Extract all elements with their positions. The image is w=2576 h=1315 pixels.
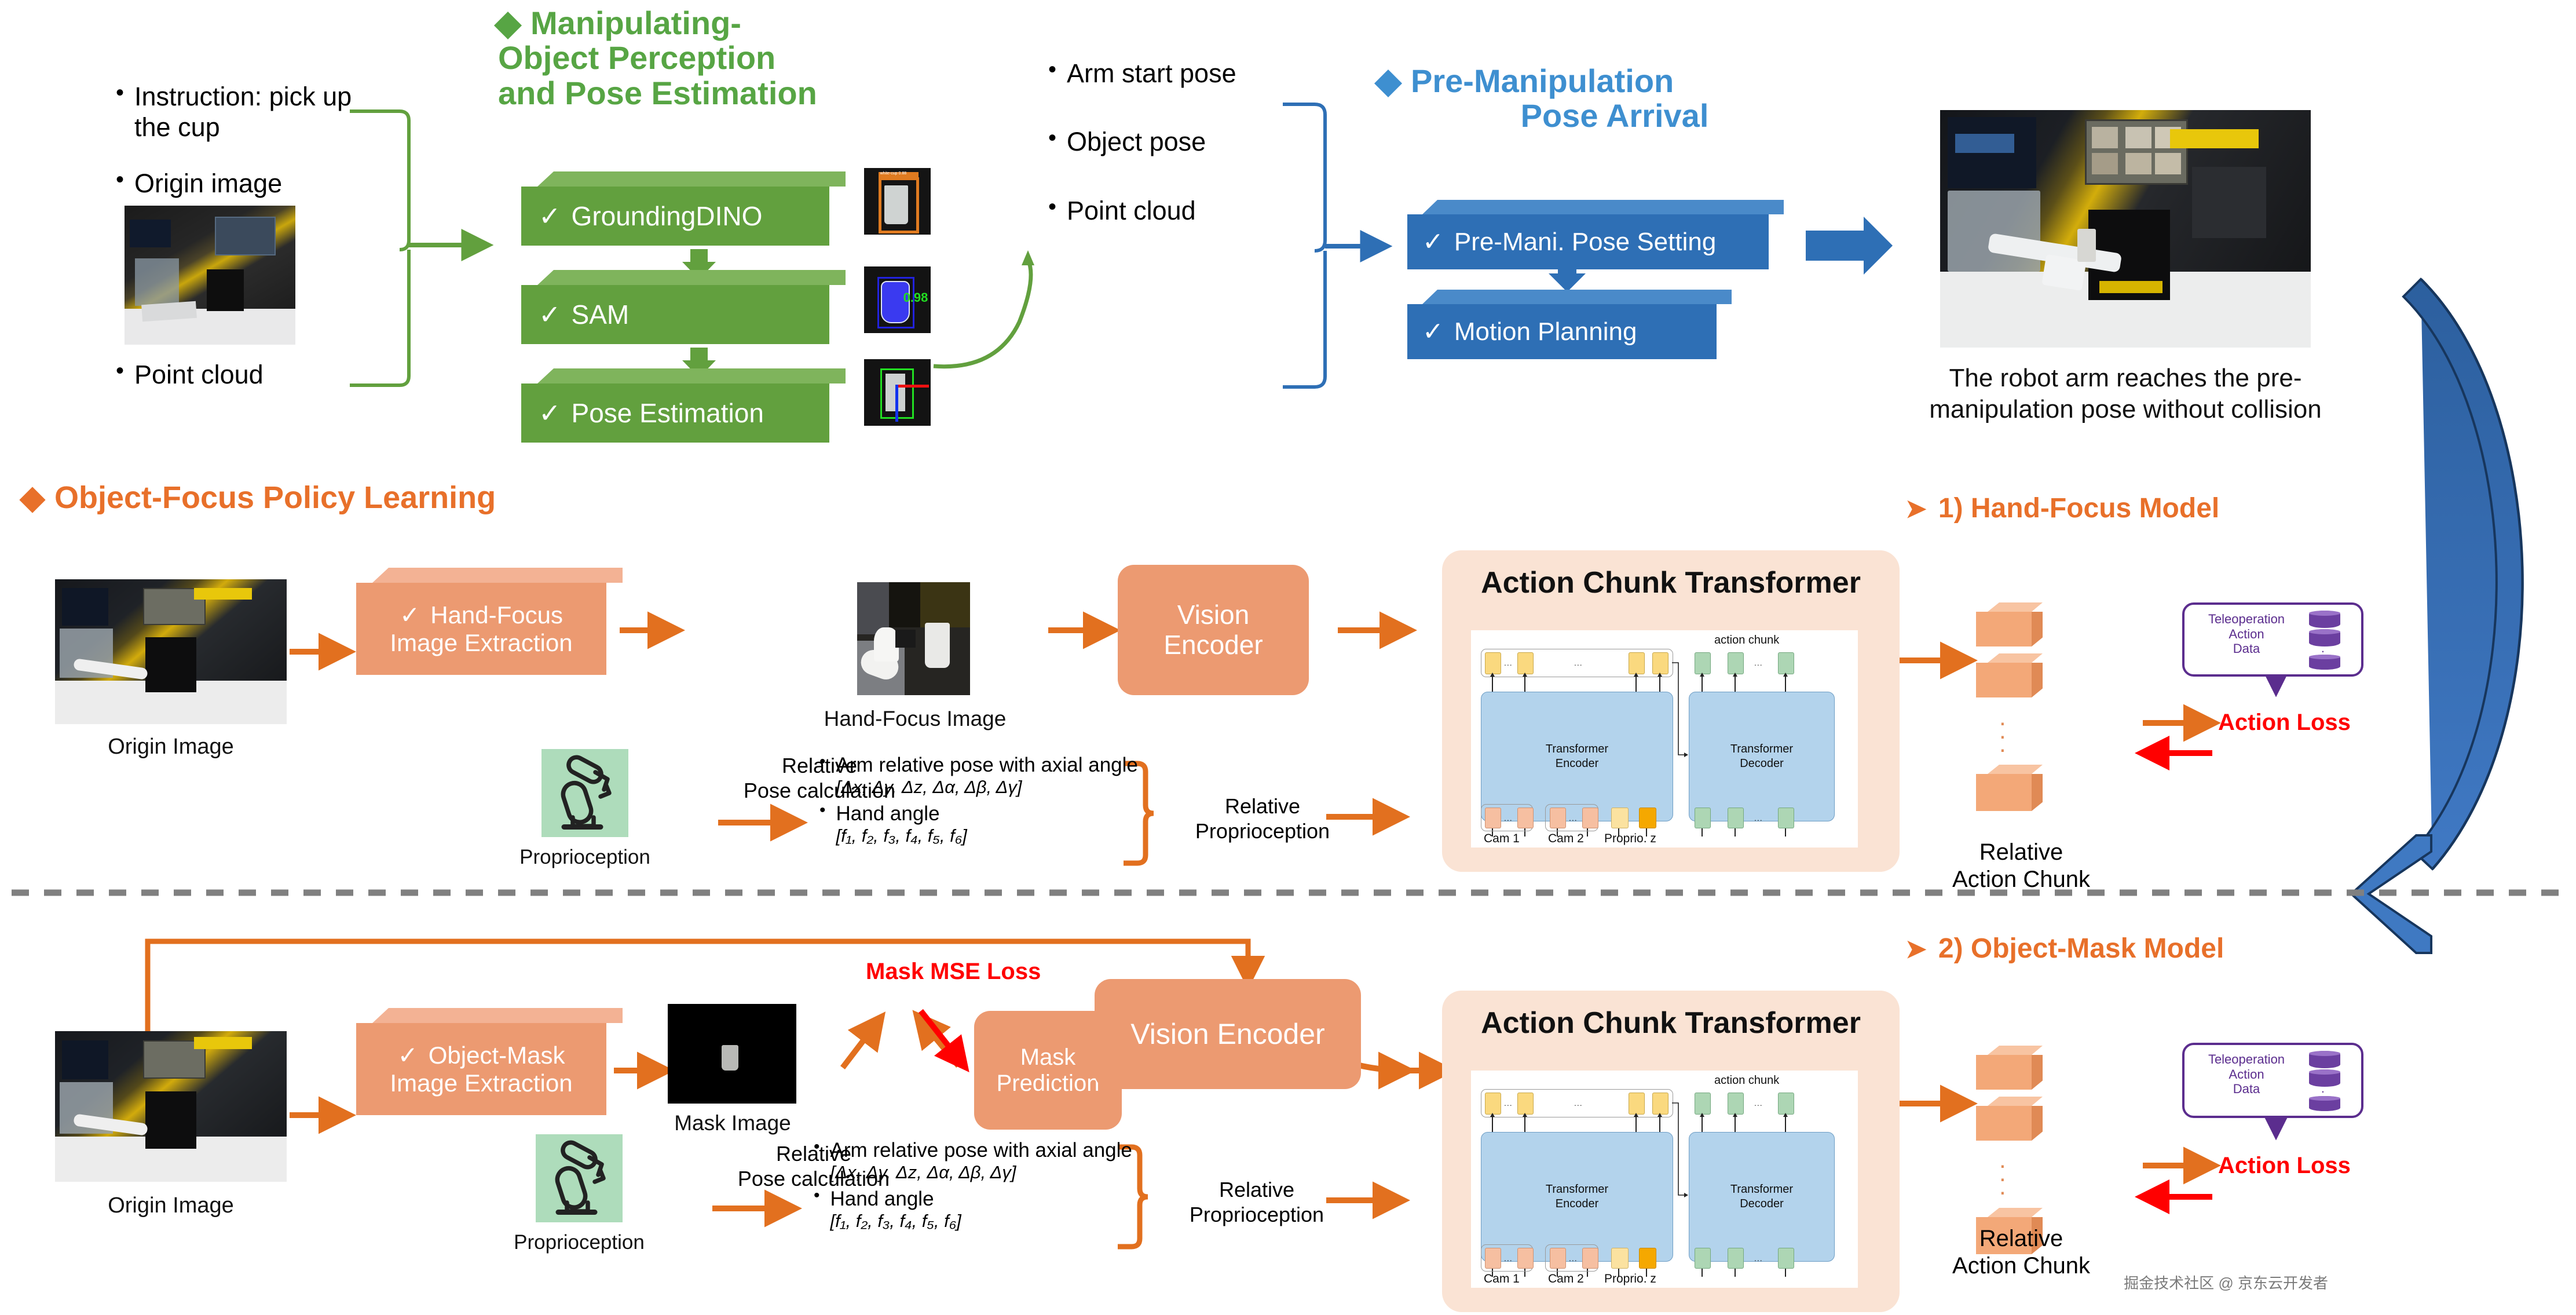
action-chunk-transformer-bottom: Action Chunk Transformer action chunk ..… — [1442, 991, 1900, 1312]
robot-arm-icon — [536, 1134, 623, 1222]
relative-proprio-line2: Proprioception — [1164, 1202, 1349, 1227]
check-icon: ✓ — [539, 299, 561, 330]
check-icon: ✓ — [539, 397, 561, 429]
check-icon: ✓ — [398, 1041, 418, 1069]
relative-proprioception-bottom: Relative Proprioception — [1164, 1177, 1349, 1227]
teleop-line3: Data — [2191, 641, 2301, 656]
hand-focus-image-extraction-box[interactable]: ✓ Hand-Focus Image Extraction — [356, 568, 623, 675]
decoder-line1: Transformer — [1730, 1182, 1793, 1197]
policy-title-text: Object-Focus Policy Learning — [54, 480, 496, 515]
database-cylinder-icon — [2309, 1051, 2340, 1068]
stage-sam[interactable]: ✓ SAM — [521, 270, 846, 344]
hand-focus-heading-text: 1) Hand-Focus Model — [1938, 493, 2219, 524]
proprioception-icon-middle — [541, 749, 628, 837]
act-title: Action Chunk Transformer — [1442, 1006, 1900, 1040]
proprio-bullet-line2: [f₁, f₂, f₃, f₄, f₅, f₆] — [836, 825, 967, 846]
vision-encoder-line1: Vision — [1177, 600, 1249, 630]
bullet-dot: • — [1048, 195, 1056, 218]
mask-prediction-line2: Prediction — [997, 1071, 1100, 1097]
database-cylinder-icon — [2309, 611, 2340, 628]
blue-curved-loop-arrow — [2351, 279, 2522, 953]
teleop-line2: Action — [2191, 1067, 2301, 1082]
vertical-ellipsis-icon: ... — [1999, 1153, 2006, 1193]
vision-encoder-line2: Encoder — [1163, 630, 1263, 660]
stage-label: Pose Estimation — [572, 397, 764, 429]
action-chunk-transformer-middle: Action Chunk Transformer action chunk ..… — [1442, 550, 1900, 872]
action-chunk-cube — [1976, 653, 2043, 697]
database-cylinder-icon — [2309, 629, 2340, 646]
premanip-title-line1: Pre-Manipulation — [1411, 63, 1674, 99]
check-icon: ✓ — [1422, 317, 1444, 346]
database-cylinder-icon — [2309, 1069, 2340, 1087]
action-loss-label-bottom: Action Loss — [2218, 1153, 2351, 1179]
object-mask-extraction-line2: Image Extraction — [390, 1069, 572, 1097]
proprio-bullet-line1: Arm relative pose with axial angle — [836, 754, 1138, 776]
mask-image-caption: Mask Image — [643, 1111, 822, 1135]
proprioception-caption-middle: Proprioception — [495, 846, 675, 869]
bullet-dot: • — [814, 1138, 820, 1156]
proprio-bullet-line2: [Δx, Δy, Δz, Δα, Δβ, Δγ] — [836, 777, 1022, 797]
diagram-canvas: • Instruction: pick up the cup • Origin … — [0, 0, 2576, 1315]
check-icon: ✓ — [539, 200, 561, 232]
hand-focus-proprio-bullets: • Arm relative pose with axial angle [Δx… — [819, 753, 1144, 847]
object-mask-proprio-bullets: • Arm relative pose with axial angle [Δx… — [814, 1138, 1138, 1232]
blue-diamond-icon — [1374, 70, 1402, 97]
action-chunk-cube — [1976, 765, 2043, 811]
premanip-input-object-pose: • Object pose — [1048, 126, 1297, 157]
origin-image-bottom-thumbnail — [55, 1031, 287, 1182]
action-chunk-cube — [1976, 1097, 2043, 1141]
bbox-detection-thumbnail: white-cup 0.88 — [864, 168, 931, 235]
bullet-dot: • — [116, 168, 124, 191]
bullet-dot: • — [819, 802, 826, 819]
proprio-bullet-line2: [f₁, f₂, f₃, f₄, f₅, f₆] — [830, 1211, 961, 1231]
perception-input-label: Instruction: pick up the cup — [134, 81, 359, 143]
origin-image-middle-thumbnail — [55, 579, 287, 724]
hand-focus-origin-caption: Origin Image — [55, 735, 287, 759]
object-mask-model-heading: ➤2) Object-Mask Model — [1905, 933, 2224, 965]
stage-label: SAM — [572, 299, 630, 330]
premanip-input-arm-start-pose: • Arm start pose — [1048, 58, 1297, 89]
transformer-decoder: Transformer Decoder — [1689, 1132, 1835, 1262]
policy-section-title: Object-Focus Policy Learning — [23, 481, 496, 514]
perception-input-label: Origin image — [134, 168, 282, 199]
chevron-right-icon: ➤ — [1905, 935, 1927, 963]
teleop-line3: Data — [2191, 1082, 2301, 1097]
perception-input-origin-image: • Origin image — [116, 168, 359, 199]
bullet-dot: • — [1048, 58, 1056, 81]
perception-title-line1: Manipulating- — [530, 5, 741, 41]
object-mask-heading-text: 2) Object-Mask Model — [1938, 933, 2224, 964]
teleoperation-action-data-middle: Teleoperation Action Data ... — [2182, 602, 2363, 677]
vertical-ellipsis-icon: ... — [1999, 710, 2006, 750]
premanip-section-title: Pre-Manipulation Pose Arrival — [1378, 64, 1818, 134]
action-chunk-cube — [1976, 602, 2043, 646]
decoder-line2: Decoder — [1730, 1197, 1793, 1211]
chunk-caption-line2: Action Chunk — [1929, 866, 2114, 893]
act-input-cam2: Cam 2 — [1548, 1272, 1584, 1286]
blue-block-arrow — [1806, 217, 1893, 275]
object-mask-image-extraction-box[interactable]: ✓ Object-Mask Image Extraction — [356, 1008, 623, 1115]
hand-focus-image-thumbnail — [857, 582, 970, 695]
database-cylinder-icon — [2309, 1096, 2340, 1111]
perception-input-point-cloud: • Point cloud — [116, 359, 359, 390]
check-icon: ✓ — [400, 601, 420, 629]
object-mask-origin-caption: Origin Image — [55, 1193, 287, 1218]
bullet-dot: • — [819, 753, 826, 770]
chunk-caption-line2: Action Chunk — [1929, 1252, 2114, 1280]
relative-proprio-line2: Proprioception — [1170, 819, 1355, 843]
chunk-caption-line1: Relative — [1929, 839, 2114, 866]
robot-result-caption-line1: The robot arm reaches the pre- — [1876, 364, 2374, 393]
decoder-line1: Transformer — [1730, 742, 1793, 757]
object-mask-extraction-line1: Object-Mask — [429, 1042, 565, 1069]
chunk-caption-line1: Relative — [1929, 1225, 2114, 1252]
act-input-cam2: Cam 2 — [1548, 832, 1584, 846]
premanip-title-line2: Pose Arrival — [1378, 98, 1818, 133]
segmentation-mask-thumbnail: 0.98 — [864, 266, 931, 333]
act-title: Action Chunk Transformer — [1442, 565, 1900, 600]
perception-input-label: Point cloud — [134, 359, 264, 390]
premanip-input-point-cloud: • Point cloud — [1048, 195, 1297, 226]
hand-focus-extraction-line1: Hand-Focus — [430, 601, 563, 629]
bullet-dot: • — [116, 359, 124, 382]
bbox-label: white-cup 0.88 — [880, 171, 907, 176]
teleop-line1: Teleoperation — [2191, 612, 2301, 627]
proprio-bullet-line1: Hand angle — [836, 802, 940, 825]
hand-focus-image-caption: Hand-Focus Image — [811, 707, 1019, 731]
teleoperation-action-data-bottom: Teleoperation Action Data ... — [2182, 1043, 2363, 1118]
teleop-line2: Action — [2191, 627, 2301, 642]
proprioception-caption-bottom: Proprioception — [489, 1231, 669, 1254]
chevron-right-icon: ➤ — [1905, 495, 1927, 523]
stage-motion-planning[interactable]: ✓ Motion Planning — [1407, 290, 1732, 359]
hand-focus-extraction-line2: Image Extraction — [390, 629, 572, 657]
vision-encoder-middle[interactable]: Vision Encoder — [1118, 565, 1309, 695]
mask-prediction-line1: Mask — [1020, 1044, 1076, 1071]
action-chunk-cube — [1976, 1046, 2043, 1090]
perception-section-title: Manipulating- Object Perception and Pose… — [498, 6, 938, 111]
relative-proprio-line1: Relative — [1164, 1177, 1349, 1202]
act-input-cam1: Cam 1 — [1484, 832, 1520, 846]
stage-label: GroundingDINO — [572, 200, 763, 232]
act-input-proprio: Proprio. z — [1604, 832, 1656, 846]
bullet-dot: • — [814, 1187, 820, 1204]
bullet-dot: • — [1048, 126, 1056, 149]
teleop-line1: Teleoperation — [2191, 1052, 2301, 1067]
perception-title-line2: Object Perception — [498, 41, 938, 75]
premanip-input-label: Point cloud — [1067, 195, 1196, 226]
stage-groundingdino[interactable]: ✓ GroundingDINO — [521, 171, 846, 246]
relative-proprio-line1: Relative — [1170, 794, 1355, 819]
origin-image-top-thumbnail — [125, 206, 295, 345]
robot-arm-icon — [541, 749, 628, 837]
relative-proprioception-middle: Relative Proprioception — [1170, 794, 1355, 843]
pose-axes-thumbnail — [864, 359, 931, 426]
act-input-cam1: Cam 1 — [1484, 1272, 1520, 1286]
relative-action-chunk-caption-middle: Relative Action Chunk — [1929, 839, 2114, 893]
stage-pose-estimation[interactable]: ✓ Pose Estimation — [521, 368, 846, 443]
transformer-decoder: Transformer Decoder — [1689, 692, 1835, 821]
database-cylinder-icon — [2309, 655, 2340, 670]
bullet-dot: • — [116, 81, 124, 104]
mask-image-thumbnail — [668, 1004, 796, 1104]
robot-arm-coffee-machine-photo — [1940, 110, 2311, 348]
premanip-input-label: Arm start pose — [1067, 58, 1236, 89]
robot-result-caption-line2: manipulation pose without collision — [1876, 395, 2374, 424]
premanip-input-label: Object pose — [1067, 126, 1206, 157]
proprio-bullet-line2: [Δx, Δy, Δz, Δα, Δβ, Δγ] — [830, 1162, 1016, 1182]
proprio-bullet-line1: Arm relative pose with axial angle — [830, 1139, 1132, 1161]
green-diamond-icon — [494, 12, 522, 39]
relative-action-chunk-caption-bottom: Relative Action Chunk — [1929, 1225, 2114, 1280]
proprio-bullet-line1: Hand angle — [830, 1188, 934, 1210]
stage-label: Motion Planning — [1454, 317, 1637, 346]
action-loss-label-middle: Action Loss — [2218, 710, 2351, 736]
orange-diamond-icon — [19, 487, 45, 513]
act-input-proprio: Proprio. z — [1604, 1272, 1656, 1286]
mask-mse-loss-label: Mask MSE Loss — [866, 959, 1041, 985]
stage-pre-mani-pose-setting[interactable]: ✓ Pre-Mani. Pose Setting — [1407, 200, 1784, 269]
stage-label: Pre-Mani. Pose Setting — [1454, 228, 1716, 257]
mask-confidence-label: 0.98 — [903, 290, 928, 305]
watermark: 掘金技术社区 @ 京东云开发者 — [2124, 1272, 2328, 1293]
check-icon: ✓ — [1422, 227, 1444, 257]
decoder-line2: Decoder — [1730, 757, 1793, 771]
proprioception-icon-bottom — [536, 1134, 623, 1222]
vision-encoder-bottom[interactable]: Vision Encoder — [1095, 979, 1361, 1089]
perception-input-instruction: • Instruction: pick up the cup — [116, 81, 359, 143]
perception-title-line3: and Pose Estimation — [498, 76, 938, 111]
vision-encoder-text: Vision Encoder — [1130, 1018, 1324, 1050]
hand-focus-model-heading: ➤1) Hand-Focus Model — [1905, 492, 2219, 524]
